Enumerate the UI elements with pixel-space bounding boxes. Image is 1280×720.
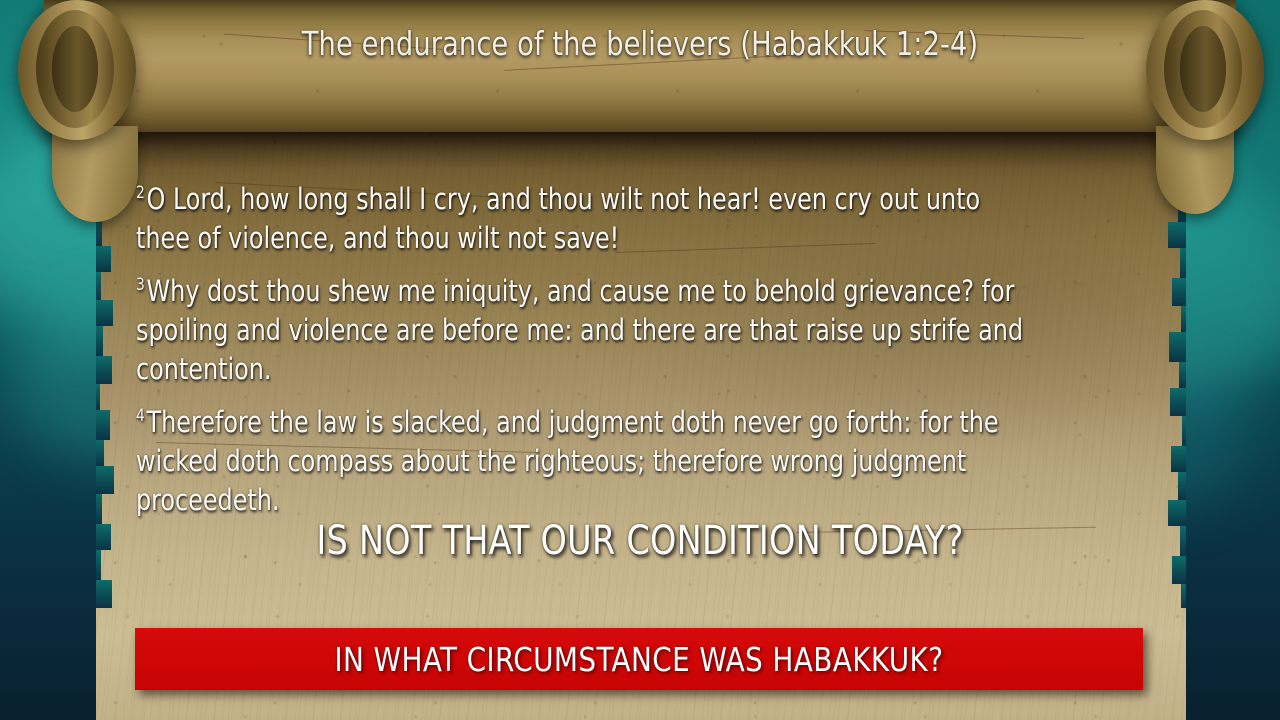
question-banner-label: IN WHAT CIRCUMSTANCE WAS HABAKKUK? [335, 640, 944, 679]
scroll-roll-left-cap [18, 0, 136, 140]
scroll-top-roll [44, 0, 1236, 132]
verse-text-2: O Lord, how long shall I cry, and thou w… [136, 182, 980, 255]
question-banner[interactable]: IN WHAT CIRCUMSTANCE WAS HABAKKUK? [135, 628, 1143, 690]
verse-3: 3Why dost thou shew me iniquity, and cau… [136, 272, 1036, 389]
verse-text-3: Why dost thou shew me iniquity, and caus… [136, 274, 1023, 386]
verse-2: 2O Lord, how long shall I cry, and thou … [136, 180, 1036, 258]
verse-4: 4Therefore the law is slacked, and judgm… [136, 403, 1036, 520]
presentation-slide: The endurance of the believers (Habakkuk… [0, 0, 1280, 720]
verse-number-2: 2 [136, 183, 145, 203]
emphasis-question: IS NOT THAT OUR CONDITION TODAY? [45, 518, 1235, 564]
verse-number-3: 3 [136, 275, 145, 295]
scroll-roll-right-cap [1146, 0, 1264, 140]
verse-number-4: 4 [136, 406, 145, 426]
slide-title: The endurance of the believers (Habakkuk… [51, 24, 1229, 63]
verse-text-4: Therefore the law is slacked, and judgme… [136, 405, 999, 517]
roll-grain-texture [44, 0, 1236, 132]
scripture-body: 2O Lord, how long shall I cry, and thou … [136, 180, 1136, 534]
